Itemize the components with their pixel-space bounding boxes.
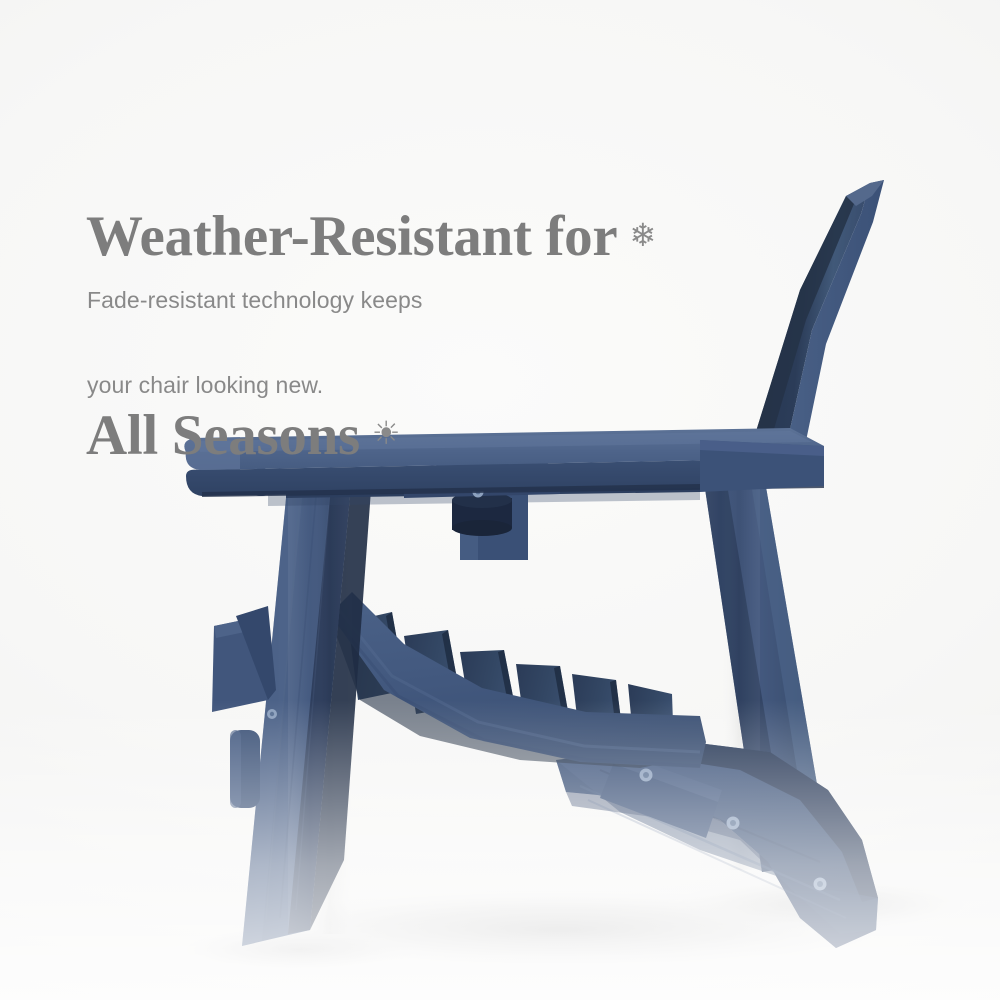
page-subtitle: Fade-resistant technology keeps your cha…: [87, 236, 557, 449]
subtitle-line-2: your chair looking new.: [87, 364, 557, 407]
product-banner: Weather-Resistant for❄ All Seasons☀ Fade…: [0, 0, 1000, 1000]
snowflake-icon: ❄: [629, 220, 655, 252]
subtitle-line-1: Fade-resistant technology keeps: [87, 279, 557, 322]
floor-sheen: [0, 700, 1000, 1000]
